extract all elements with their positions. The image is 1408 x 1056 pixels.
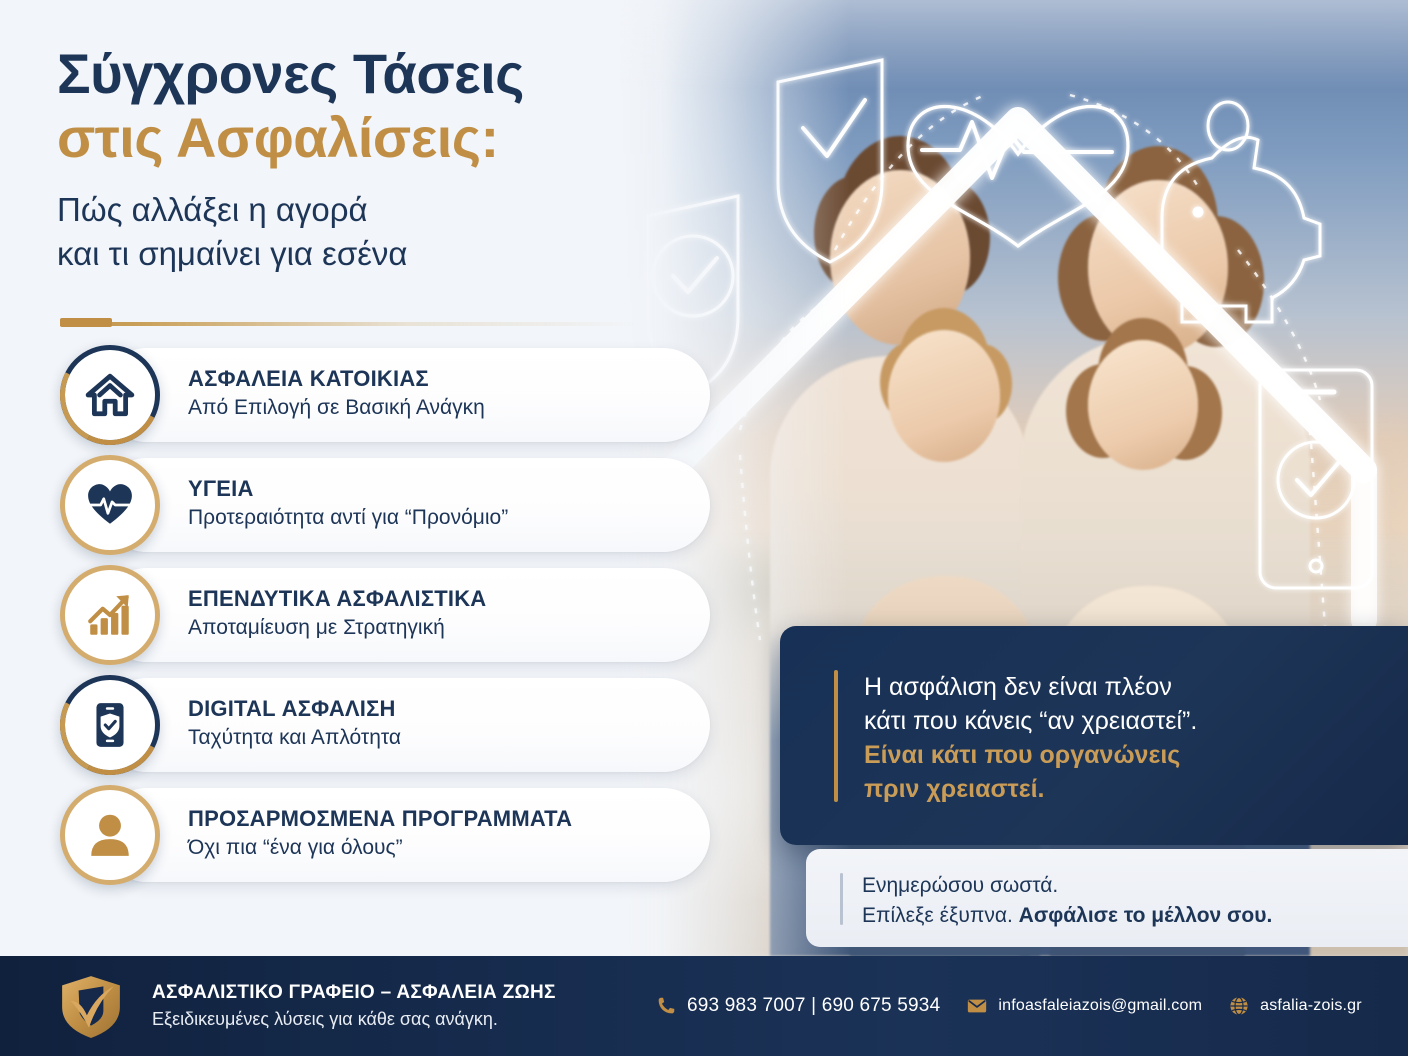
home-icon <box>60 345 160 445</box>
contact-email[interactable]: infoasfaleiazois@gmail.com <box>966 995 1202 1017</box>
feature-text: ΑΣΦΑΛΕΙΑ ΚΑΤΟΙΚΙΑΣ Από Επιλογή σε Βασική… <box>188 366 688 422</box>
hero-top-fade <box>620 0 1408 90</box>
contact-phone[interactable]: 693 983 7007 | 690 675 5934 <box>655 995 940 1017</box>
infographic-canvas: Σύγχρονες Τάσεις στις Ασφαλίσεις: Πώς αλ… <box>0 0 1408 1056</box>
growth-chart-icon <box>60 565 160 665</box>
gold-shield-logo <box>57 974 125 1040</box>
father-head <box>830 170 970 345</box>
subtitle-line-2: και τι σημαίνει για εσένα <box>57 232 697 276</box>
feature-subtitle: Όχι πια “ένα για όλους” <box>188 834 688 861</box>
left-content-column: Σύγχρονες Τάσεις στις Ασφαλίσεις: Πώς αλ… <box>0 0 720 956</box>
feature-text: ΕΠΕΝΔΥΤΙΚΑ ΑΣΦΑΛΙΣΤΙΚΑ Αποταμίευση με Στ… <box>188 586 688 642</box>
mother-head <box>1088 180 1228 355</box>
brand-tagline: Εξειδικευμένες λύσεις για κάθε σας ανάγκ… <box>152 1008 556 1031</box>
heart-pulse-icon <box>60 455 160 555</box>
boy-head <box>888 330 1000 462</box>
growth-chart-icon-glyph <box>85 590 135 640</box>
mobile-shield-check-icon <box>60 675 160 775</box>
mobile-shield-check-icon-glyph <box>85 700 135 750</box>
feature-title: ΠΡΟΣΑΡΜΟΣΜΕΝΑ ΠΡΟΓΡΑΜΜΑΤΑ <box>188 806 688 831</box>
footer-brand: ΑΣΦΑΛΙΣΤΙΚΟ ΓΡΑΦΕΙΟ – ΑΣΦΑΛΕΙΑ ΖΩΗΣ Εξει… <box>152 981 556 1031</box>
page-subtitle: Πώς αλλάξει η αγορά και τι σημαίνει για … <box>57 188 697 275</box>
quote-highlight-1: Είναι κάτι που οργανώνεις <box>864 738 1374 772</box>
feature-list: ΑΣΦΑΛΕΙΑ ΚΑΤΟΙΚΙΑΣ Από Επιλογή σε Βασική… <box>60 348 710 898</box>
feature-text: ΠΡΟΣΑΡΜΟΣΜΕΝΑ ΠΡΟΓΡΑΜΜΑΤΑ Όχι πια “ένα γ… <box>188 806 688 862</box>
phone-icon <box>655 995 677 1017</box>
note-line-2-plain: Επίλεξε έξυπνα. <box>862 904 1019 927</box>
feature-subtitle: Από Επιλογή σε Βασική Ανάγκη <box>188 394 688 421</box>
quote-text: Η ασφάλιση δεν είναι πλέον κάτι που κάνε… <box>864 670 1374 806</box>
feature-item-investment[interactable]: ΕΠΕΝΔΥΤΙΚΑ ΑΣΦΑΛΙΣΤΙΚΑ Αποταμίευση με Στ… <box>60 568 710 662</box>
heart-pulse-icon-glyph <box>85 480 135 530</box>
email-address: infoasfaleiazois@gmail.com <box>998 997 1202 1015</box>
feature-subtitle: Αποταμίευση με Στρατηγική <box>188 614 688 641</box>
feature-item-health[interactable]: ΥΓΕΙΑ Προτεραιότητα αντί για “Προνόμιο” <box>60 458 710 552</box>
website-url: asfalia-zois.gr <box>1260 997 1362 1015</box>
quote-accent-bar <box>834 670 838 802</box>
home-icon-glyph <box>85 370 135 420</box>
feature-text: ΥΓΕΙΑ Προτεραιότητα αντί για “Προνόμιο” <box>188 476 688 532</box>
gold-divider <box>60 322 640 326</box>
note-line-2-bold: Ασφάλισε το μέλλον σου. <box>1019 904 1273 927</box>
person-icon <box>60 785 160 885</box>
subtitle-line-1: Πώς αλλάξει η αγορά <box>57 188 697 232</box>
feature-item-digital[interactable]: DIGITAL ΑΣΦΑΛΙΣΗ Ταχύτητα και Απλότητα <box>60 678 710 772</box>
page-title: Σύγχρονες Τάσεις στις Ασφαλίσεις: Πώς αλ… <box>57 44 697 275</box>
feature-title: DIGITAL ΑΣΦΑΛΙΣΗ <box>188 696 688 721</box>
quote-line-1: Η ασφάλιση δεν είναι πλέον <box>864 673 1172 701</box>
contact-website[interactable]: asfalia-zois.gr <box>1228 995 1362 1017</box>
feature-title: ΥΓΕΙΑ <box>188 476 688 501</box>
phone-numbers: 693 983 7007 | 690 675 5934 <box>687 995 940 1017</box>
brand-name: ΑΣΦΑΛΙΣΤΙΚΟ ΓΡΑΦΕΙΟ – ΑΣΦΑΛΕΙΑ ΖΩΗΣ <box>152 981 556 1005</box>
quote-line-2: κάτι που κάνεις “αν χρειαστεί”. <box>864 707 1197 735</box>
email-icon <box>966 995 988 1017</box>
feature-item-personalised[interactable]: ΠΡΟΣΑΡΜΟΣΜΕΝΑ ΠΡΟΓΡΑΜΜΑΤΑ Όχι πια “ένα γ… <box>60 788 710 882</box>
gold-divider-cap <box>60 318 112 327</box>
feature-title: ΕΠΕΝΔΥΤΙΚΑ ΑΣΦΑΛΙΣΤΙΚΑ <box>188 586 688 611</box>
note-accent-bar <box>840 873 843 925</box>
feature-subtitle: Ταχύτητα και Απλότητα <box>188 724 688 751</box>
quote-callout: Η ασφάλιση δεν είναι πλέον κάτι που κάνε… <box>780 626 1408 845</box>
footer-bar: ΑΣΦΑΛΙΣΤΙΚΟ ΓΡΑΦΕΙΟ – ΑΣΦΑΛΕΙΑ ΖΩΗΣ Εξει… <box>0 956 1408 1056</box>
footer-contacts: 693 983 7007 | 690 675 5934 infoasfaleia… <box>655 956 1362 1056</box>
quote-highlight-2: πριν χρειαστεί. <box>864 772 1374 806</box>
title-line-2: στις Ασφαλίσεις: <box>57 107 697 170</box>
note-callout: Ενημερώσου σωστά. Επίλεξε έξυπνα. Ασφάλι… <box>806 849 1408 947</box>
note-line-1: Ενημερώσου σωστά. <box>862 874 1058 897</box>
feature-subtitle: Προτεραιότητα αντί για “Προνόμιο” <box>188 504 688 531</box>
person-icon-glyph <box>85 810 135 860</box>
feature-text: DIGITAL ΑΣΦΑΛΙΣΗ Ταχύτητα και Απλότητα <box>188 696 688 752</box>
title-line-1: Σύγχρονες Τάσεις <box>57 44 697 103</box>
feature-title: ΑΣΦΑΛΕΙΑ ΚΑΤΟΙΚΙΑΣ <box>188 366 688 391</box>
note-text: Ενημερώσου σωστά. Επίλεξε έξυπνα. Ασφάλι… <box>862 871 1382 931</box>
girl-head <box>1088 340 1198 470</box>
globe-icon <box>1228 995 1250 1017</box>
feature-item-home[interactable]: ΑΣΦΑΛΕΙΑ ΚΑΤΟΙΚΙΑΣ Από Επιλογή σε Βασική… <box>60 348 710 442</box>
